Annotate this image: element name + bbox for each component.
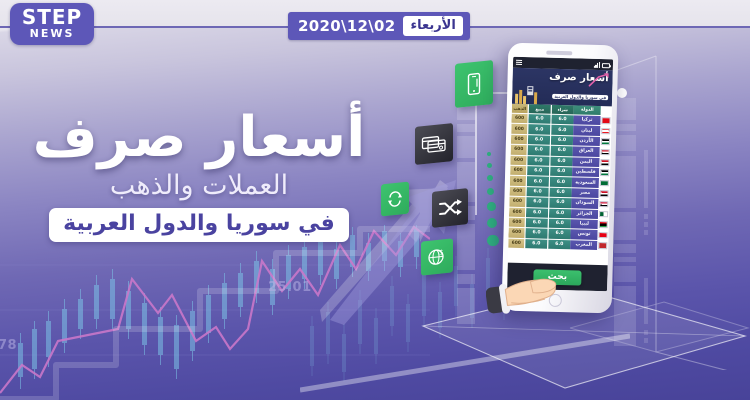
currency-swap-icon-tile[interactable] [381, 182, 409, 217]
cell-sell: 6.0 [524, 239, 547, 249]
country-flag-cell [600, 147, 611, 157]
flag-icon [598, 242, 607, 249]
cell-gold: 600 [510, 166, 526, 176]
mobile-icon [466, 71, 482, 97]
header-flag-cell [601, 106, 612, 115]
cell-sell: 6.0 [527, 145, 550, 155]
cell-gold: 600 [510, 186, 526, 196]
flag-icon [599, 211, 608, 218]
status-indicators [594, 61, 610, 67]
logo-news-text: NEWS [30, 28, 75, 40]
cell-buy: 6.0 [550, 136, 573, 146]
country-flag-cell [598, 199, 609, 209]
header-gold: الذهب [512, 104, 528, 113]
table-body: تركيا6.06.0600لبنان6.06.0600الأردن6.06.0… [508, 114, 612, 252]
cell-country: العراق [573, 146, 600, 156]
cell-buy: 6.0 [548, 208, 571, 218]
country-flag-cell [599, 158, 610, 168]
app-header: أسعار صرف في سوريا والدول العربية [512, 68, 613, 107]
country-flag-cell [600, 126, 611, 136]
credit-cards-icon [421, 133, 447, 156]
flag-icon [601, 128, 610, 135]
country-flag-cell [598, 220, 609, 230]
cell-country: السودان [571, 198, 598, 208]
step-news-logo[interactable]: STEP NEWS [10, 3, 94, 45]
cell-gold: 600 [508, 238, 524, 248]
shuffle-arrows-icon-tile[interactable] [432, 188, 468, 228]
cell-sell: 6.0 [526, 187, 549, 197]
cell-country: اليمن [572, 157, 599, 167]
phone-home-button[interactable] [549, 294, 562, 307]
page-subtitle: العملات والذهب [14, 170, 384, 202]
hamburger-icon[interactable] [516, 60, 522, 66]
cell-buy: 6.0 [549, 177, 572, 187]
cell-country: تركيا [573, 115, 600, 125]
header-sell: مبيع [528, 104, 551, 114]
cell-gold: 600 [510, 155, 526, 165]
country-flag-cell [599, 178, 610, 188]
cell-country: المغرب [570, 240, 597, 250]
country-flag-cell [597, 230, 608, 240]
cell-buy: 6.0 [549, 156, 572, 166]
country-flag-cell [598, 189, 609, 199]
country-flag-cell [598, 210, 609, 220]
cell-sell: 6.0 [525, 197, 548, 207]
cell-gold: 600 [509, 207, 525, 217]
battery-icon [602, 63, 610, 68]
region-badge: في سوريا والدول العربية [49, 208, 349, 242]
chart-value-right: 25.01 [268, 280, 312, 295]
weekday-chip: الأربعاء [403, 16, 462, 36]
header-country: الدولة [574, 105, 601, 115]
exchange-rate-table: الدولة شراء مبيع الذهب تركيا6.06.0600لبن… [508, 104, 612, 266]
cell-country: الجزائر [571, 209, 598, 219]
cell-sell: 6.0 [527, 114, 550, 124]
cell-buy: 6.0 [549, 187, 572, 197]
cell-buy: 6.0 [550, 146, 573, 156]
cell-buy: 6.0 [550, 125, 573, 135]
date-banner: 2020\12\02 الأربعاء [288, 12, 470, 40]
cell-buy: 6.0 [547, 229, 570, 239]
header-buy: شراء [551, 105, 574, 115]
cell-sell: 6.0 [525, 218, 548, 228]
cell-sell: 6.0 [526, 176, 549, 186]
cell-gold: 600 [511, 114, 527, 124]
cell-gold: 600 [511, 145, 527, 155]
cell-gold: 600 [511, 134, 527, 144]
search-button[interactable]: بحث [534, 269, 582, 285]
table-row[interactable]: المغرب6.06.0600 [508, 238, 608, 251]
flag-icon [600, 180, 609, 187]
currency-swap-icon [386, 189, 404, 209]
flag-icon [601, 149, 610, 156]
cell-gold: 600 [511, 124, 527, 134]
globe-dollar-icon-tile[interactable]: $ [421, 238, 453, 275]
cell-buy: 6.0 [548, 198, 571, 208]
country-flag-cell [600, 137, 611, 147]
flag-icon [599, 201, 608, 208]
progress-dot [487, 175, 493, 181]
cell-country: لبنان [573, 126, 600, 136]
flag-icon [601, 118, 610, 125]
flag-icon [599, 221, 608, 228]
page-title: أسعار صرف [14, 108, 384, 168]
date-text: 2020\12\02 [298, 17, 395, 35]
cell-gold: 600 [510, 176, 526, 186]
signal-bars-icon [594, 61, 600, 67]
credit-cards-icon-tile[interactable] [415, 123, 453, 165]
cell-sell: 6.0 [527, 135, 550, 145]
progress-dot [487, 235, 499, 247]
cell-gold: 600 [508, 228, 524, 238]
flag-icon [600, 169, 609, 176]
country-flag-cell [597, 241, 608, 251]
progress-dot [487, 152, 491, 156]
progress-dot [487, 218, 497, 228]
flag-icon [601, 138, 610, 145]
country-flag-cell [599, 168, 610, 178]
phone-screen: أسعار صرف في سوريا والدول العربية الدولة… [507, 57, 613, 292]
headline-block: أسعار صرف العملات والذهب في سوريا والدول… [14, 108, 384, 242]
cell-sell: 6.0 [524, 228, 547, 238]
logo-step-text: STEP [22, 8, 82, 27]
trend-arrow-icon [588, 73, 608, 88]
background-candlestick-chart [0, 225, 430, 400]
phone-speaker [546, 51, 572, 56]
cell-buy: 6.0 [547, 239, 570, 249]
progress-dot [487, 188, 494, 195]
progress-dot [487, 163, 492, 168]
smartphone-mockup: أسعار صرف في سوريا والدول العربية الدولة… [502, 43, 619, 314]
cell-sell: 6.0 [527, 125, 550, 135]
cell-country: الأردن [573, 136, 600, 146]
cell-country: تونس [570, 230, 597, 240]
cell-sell: 6.0 [526, 156, 549, 166]
cell-country: مصر [571, 188, 598, 198]
flag-icon [600, 190, 609, 197]
app-subtitle: في سوريا والدول العربية [552, 94, 608, 100]
cell-buy: 6.0 [549, 167, 572, 177]
cell-gold: 600 [509, 197, 525, 207]
bar-chart-icon [514, 82, 541, 105]
svg-text:$: $ [439, 247, 443, 256]
cell-sell: 6.0 [525, 208, 548, 218]
cell-gold: 600 [509, 218, 525, 228]
progress-dots [487, 152, 499, 253]
flag-icon [600, 159, 609, 166]
progress-dot [487, 202, 496, 211]
cell-country: فلسطين [572, 167, 599, 177]
cell-country: ليبيا [571, 219, 598, 229]
chart-value-left: 78 [0, 338, 17, 353]
cell-buy: 6.0 [548, 219, 571, 229]
flag-icon [598, 232, 607, 239]
poster-canvas: 78 25.01 [0, 0, 750, 400]
search-area: بحث [507, 263, 608, 292]
mobile-icon-tile[interactable] [455, 60, 493, 108]
globe-dollar-icon: $ [427, 246, 447, 268]
cell-country: السعودية [572, 178, 599, 188]
cell-sell: 6.0 [526, 166, 549, 176]
country-flag-cell [600, 116, 611, 126]
shuffle-arrows-icon [438, 197, 462, 220]
cell-buy: 6.0 [550, 115, 573, 125]
